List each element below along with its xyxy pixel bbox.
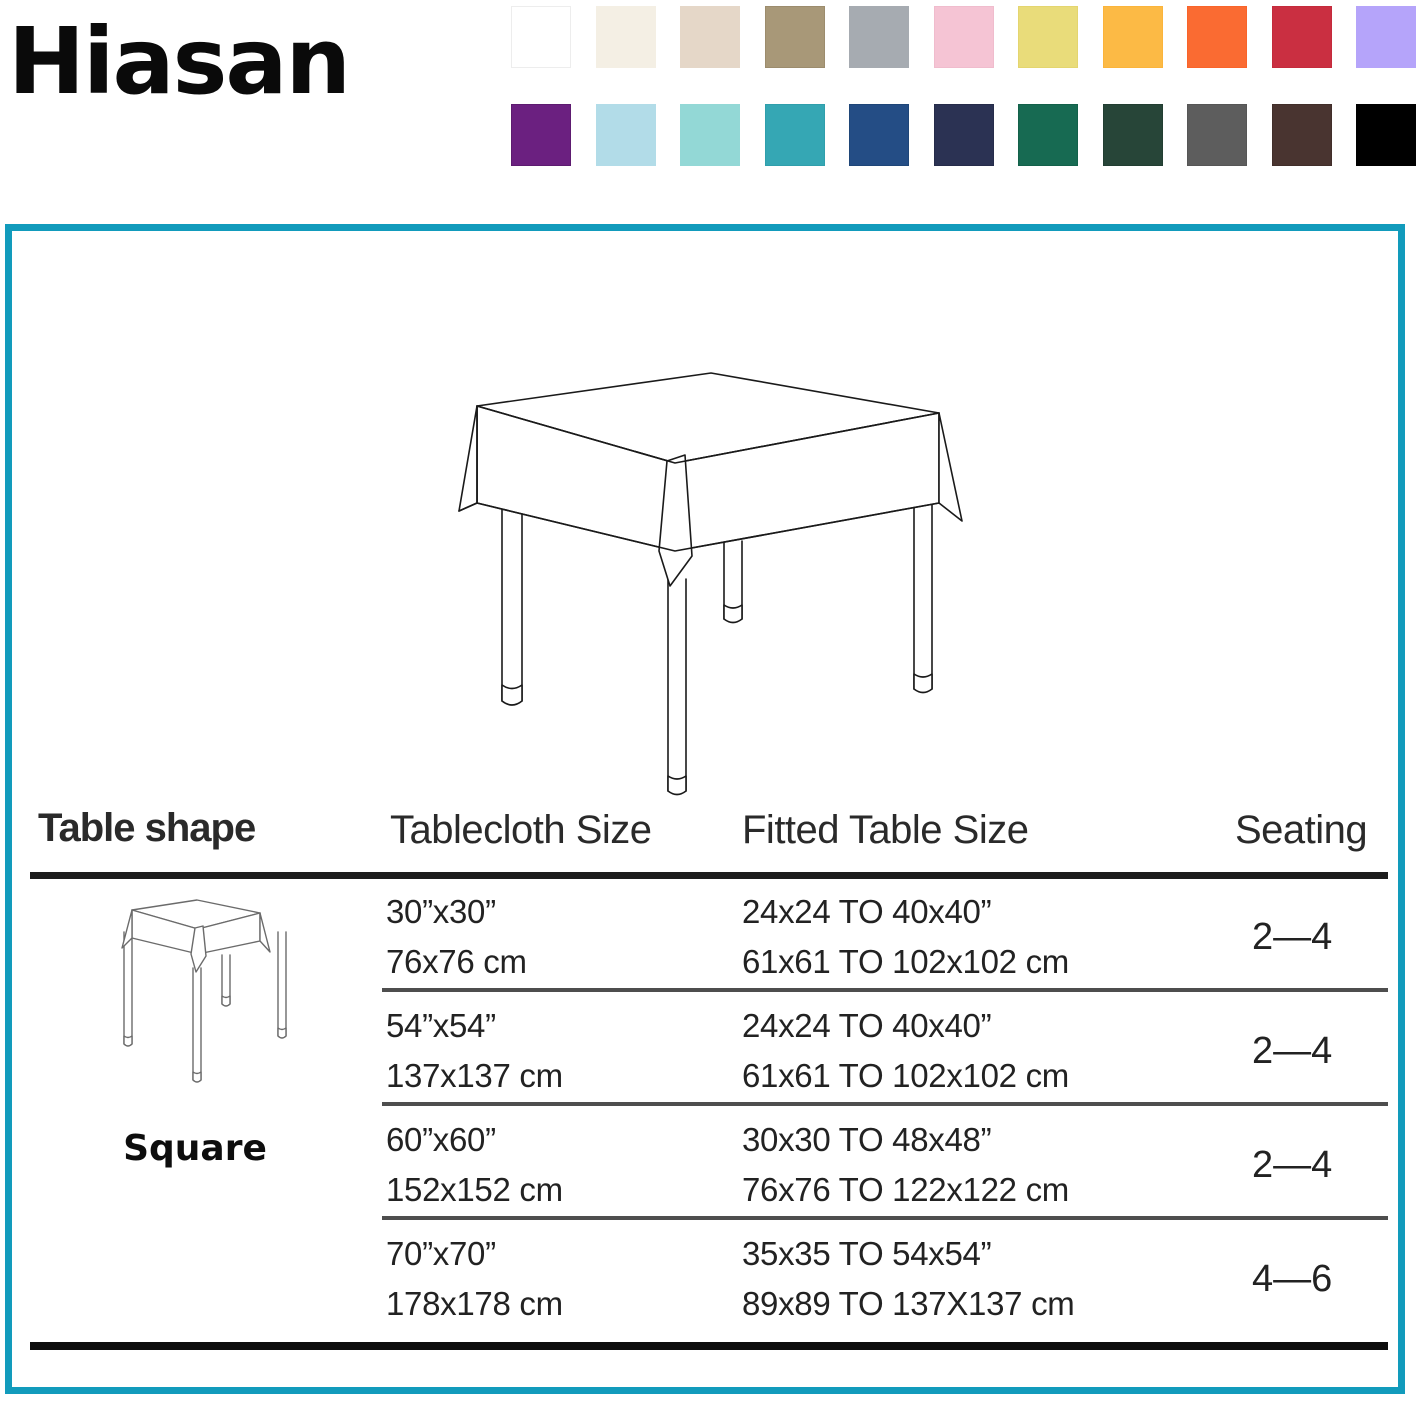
color-swatch-beige[interactable] (680, 6, 740, 68)
color-swatch-brown[interactable] (1272, 104, 1332, 166)
table-row: 54”x54”137x137 cm24x24 TO 40x40”61x61 TO… (30, 1000, 1388, 1105)
size-chart-card: Table shape Tablecloth Size Fitted Table… (5, 224, 1405, 1394)
cell-fitted-size-inches: 24x24 TO 40x40” (742, 1007, 991, 1045)
row-divider (382, 1216, 1388, 1220)
cell-tablecloth-size-cm: 178x178 cm (386, 1285, 563, 1323)
color-swatch-light-blue[interactable] (596, 104, 656, 166)
color-swatch-row-2 (511, 104, 1416, 166)
cell-seating: 2—4 (1252, 1144, 1332, 1187)
color-swatch-navy[interactable] (934, 104, 994, 166)
color-swatch-dark-green[interactable] (1103, 104, 1163, 166)
color-swatch-purple[interactable] (511, 104, 571, 166)
cell-tablecloth-size-inches: 30”x30” (386, 893, 496, 931)
cell-tablecloth-size-cm: 152x152 cm (386, 1171, 563, 1209)
color-swatch-amber[interactable] (1103, 6, 1163, 68)
cell-tablecloth-size-inches: 60”x60” (386, 1121, 496, 1159)
color-swatch-denim-blue[interactable] (849, 104, 909, 166)
row-divider (382, 1102, 1388, 1106)
size-spec-table: Table shape Tablecloth Size Fitted Table… (30, 806, 1388, 1366)
color-swatch-teal[interactable] (765, 104, 825, 166)
cell-fitted-size-inches: 30x30 TO 48x48” (742, 1121, 991, 1159)
table-bottom-rule (30, 1342, 1388, 1350)
cell-fitted-size-inches: 24x24 TO 40x40” (742, 893, 991, 931)
cell-seating: 2—4 (1252, 1030, 1332, 1073)
color-swatch-red[interactable] (1272, 6, 1332, 68)
spec-table-header-row: Table shape Tablecloth Size Fitted Table… (30, 806, 1388, 868)
column-header-fitted-table-size: Fitted Table Size (742, 808, 1028, 853)
color-swatch-orange[interactable] (1187, 6, 1247, 68)
color-swatch-lavender[interactable] (1356, 6, 1416, 68)
cell-fitted-size-inches: 35x35 TO 54x54” (742, 1235, 991, 1273)
cell-tablecloth-size-cm: 137x137 cm (386, 1057, 563, 1095)
column-header-tablecloth-size: Tablecloth Size (390, 808, 652, 853)
color-swatch-pink[interactable] (934, 6, 994, 68)
brand-logo: Hiasan (8, 16, 349, 108)
table-row: 70”x70”178x178 cm35x35 TO 54x54”89x89 TO… (30, 1228, 1388, 1333)
cell-tablecloth-size-cm: 76x76 cm (386, 943, 527, 981)
color-swatch-dark-grey[interactable] (1187, 104, 1247, 166)
color-swatch-black[interactable] (1356, 104, 1416, 166)
cell-fitted-size-cm: 76x76 TO 122x122 cm (742, 1171, 1069, 1209)
color-swatch-emerald[interactable] (1018, 104, 1078, 166)
cell-seating: 4—6 (1252, 1258, 1332, 1301)
header-divider-rule (30, 872, 1388, 879)
column-header-table-shape: Table shape (38, 806, 255, 851)
color-swatch-white[interactable] (511, 6, 571, 68)
color-swatch-aqua[interactable] (680, 104, 740, 166)
cell-seating: 2—4 (1252, 916, 1332, 959)
table-row: 30”x30”76x76 cm24x24 TO 40x40”61x61 TO 1… (30, 886, 1388, 991)
cell-fitted-size-cm: 61x61 TO 102x102 cm (742, 943, 1069, 981)
color-swatch-panel (511, 0, 1416, 175)
brand-header: Hiasan (0, 0, 1416, 200)
square-table-illustration (427, 351, 987, 801)
row-divider (382, 988, 1388, 992)
color-swatch-taupe[interactable] (765, 6, 825, 68)
color-swatch-yellow[interactable] (1018, 6, 1078, 68)
cell-fitted-size-cm: 61x61 TO 102x102 cm (742, 1057, 1069, 1095)
color-swatch-grey[interactable] (849, 6, 909, 68)
color-swatch-ivory[interactable] (596, 6, 656, 68)
color-swatch-row-1 (511, 6, 1416, 68)
column-header-seating: Seating (1235, 808, 1367, 853)
cell-tablecloth-size-inches: 70”x70” (386, 1235, 496, 1273)
cell-tablecloth-size-inches: 54”x54” (386, 1007, 496, 1045)
cell-fitted-size-cm: 89x89 TO 137X137 cm (742, 1285, 1074, 1323)
table-row: 60”x60”152x152 cm30x30 TO 48x48”76x76 TO… (30, 1114, 1388, 1219)
